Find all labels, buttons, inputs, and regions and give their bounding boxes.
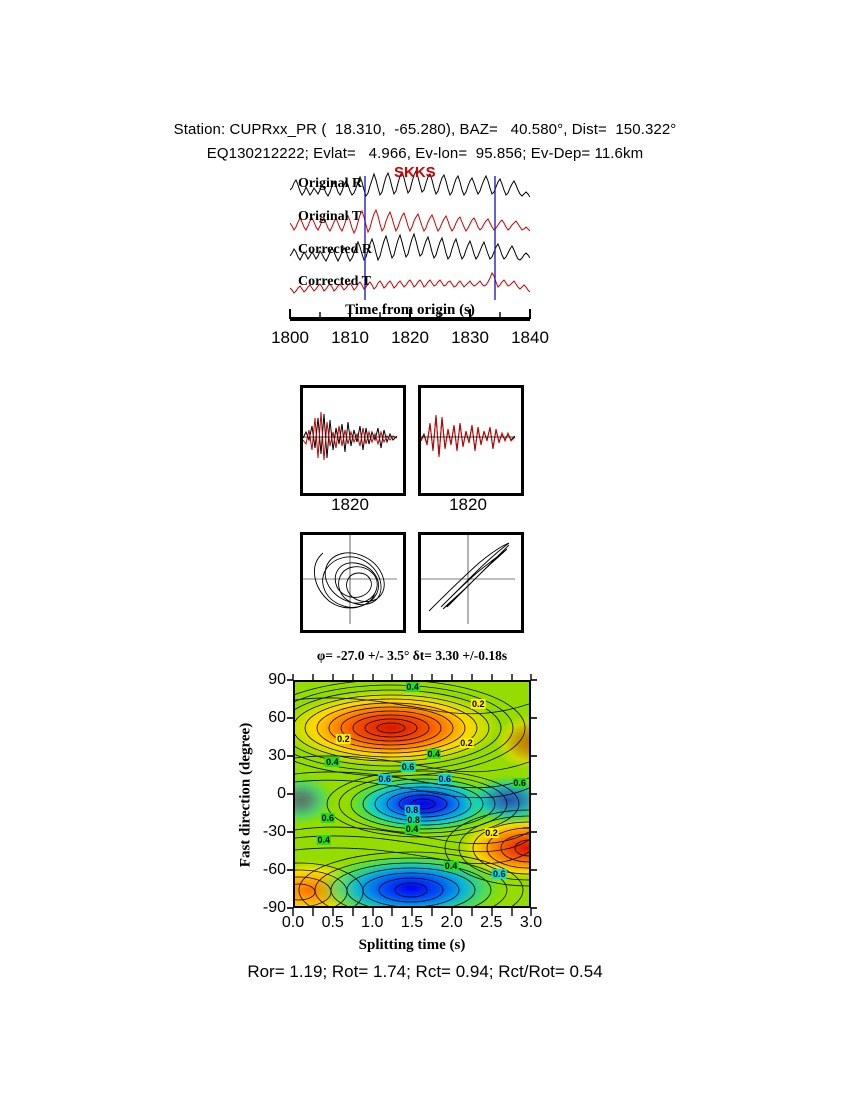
particle-motion-original-path bbox=[303, 535, 397, 624]
xtick-1-0: 1.0 bbox=[361, 914, 383, 932]
xtick-0-5: 0.5 bbox=[322, 914, 344, 932]
xtick-0-0: 0.0 bbox=[282, 914, 304, 932]
skks-phase-label: SKKS bbox=[394, 164, 436, 181]
zoom-panel-original bbox=[300, 385, 406, 496]
trace-label-original-r: Original R bbox=[298, 176, 362, 192]
time-tick-1820: 1820 bbox=[391, 328, 429, 348]
figure-page: Station: CUPRxx_PR ( 18.310, -65.280), B… bbox=[0, 0, 850, 1100]
trace-label-original-t: Original T bbox=[298, 209, 361, 225]
time-tick-1800: 1800 bbox=[271, 328, 309, 348]
figure-header: Station: CUPRxx_PR ( 18.310, -65.280), B… bbox=[0, 118, 850, 166]
xtick-2-5: 2.5 bbox=[480, 914, 502, 932]
contour-ytick-labels: 90 60 30 0 -30 -60 -90 bbox=[244, 680, 286, 908]
station-info-line: Station: CUPRxx_PR ( 18.310, -65.280), B… bbox=[0, 118, 850, 142]
trace-label-corrected-r: Corrected R bbox=[298, 242, 372, 258]
contour-xtick-labels: 0.0 0.5 1.0 1.5 2.0 2.5 3.0 bbox=[293, 914, 531, 936]
xtick-1-5: 1.5 bbox=[401, 914, 423, 932]
zoom-panel-original-label: 1820 bbox=[300, 495, 400, 515]
time-tick-1830: 1830 bbox=[451, 328, 489, 348]
zoom-panel-corrected-label: 1820 bbox=[418, 495, 518, 515]
quality-stats-line: Ror= 1.19; Rot= 1.74; Rct= 0.94; Rct/Rot… bbox=[0, 962, 850, 982]
particle-motion-original bbox=[300, 532, 406, 633]
event-info-line: EQ130212222; Evlat= 4.966, Ev-lon= 95.85… bbox=[0, 142, 850, 166]
trace-label-corrected-t: Corrected T bbox=[298, 274, 371, 290]
particle-motion-corrected bbox=[418, 532, 524, 633]
contour-xlabel: Splitting time (s) bbox=[293, 937, 531, 954]
time-tick-1810: 1810 bbox=[331, 328, 369, 348]
time-axis-title: Time from origin (s) bbox=[290, 302, 530, 319]
waveform-panel: Original R Original T Corrected R Correc… bbox=[290, 168, 530, 308]
particle-motion-corrected-path bbox=[421, 535, 515, 624]
splitting-result-title: φ= -27.0 +/- 3.5° δt= 3.30 +/-0.18s bbox=[293, 648, 531, 664]
xtick-3-0: 3.0 bbox=[520, 914, 542, 932]
xtick-2-0: 2.0 bbox=[441, 914, 463, 932]
contour-axis-ticks bbox=[281, 668, 543, 922]
time-tick-1840: 1840 bbox=[511, 328, 549, 348]
zoom-corrected-traces bbox=[421, 388, 515, 487]
zoom-panel-corrected bbox=[418, 385, 524, 496]
time-tick-labels: 1800 1810 1820 1830 1840 bbox=[255, 328, 565, 352]
zoom-original-traces bbox=[303, 388, 397, 487]
zoom-corrected-slow bbox=[421, 415, 515, 457]
